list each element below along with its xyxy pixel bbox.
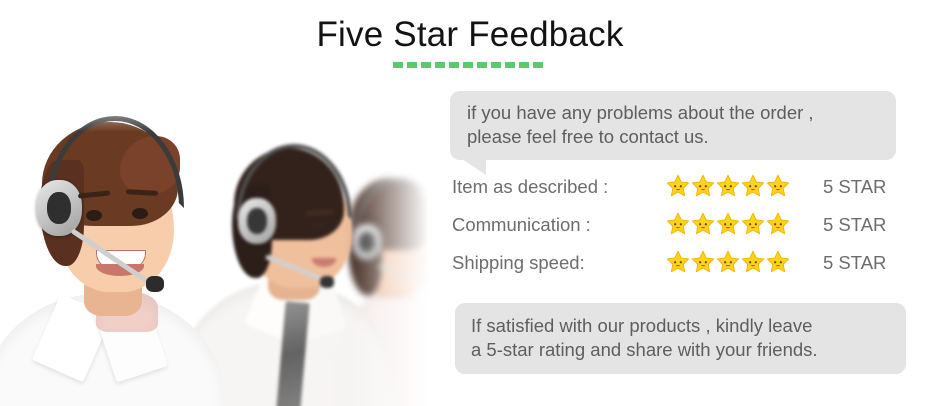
rating-row-communication: Communication :	[452, 210, 912, 248]
rating-value: 5 STAR	[823, 214, 886, 236]
star-icon	[766, 250, 790, 274]
star-icon	[666, 250, 690, 274]
star-icon	[766, 212, 790, 236]
leave-rating-line-2: a 5-star rating and share with your frie…	[471, 338, 891, 362]
leave-rating-line-1: If satisfied with our products , kindly …	[471, 314, 891, 338]
star-rating-5	[666, 248, 796, 278]
rating-label: Item as described :	[452, 176, 608, 198]
star-icon	[741, 174, 765, 198]
rating-value: 5 STAR	[823, 176, 886, 198]
star-icon	[691, 174, 715, 198]
rating-row-item-as-described: Item as described :	[452, 172, 912, 210]
star-rating-5	[666, 210, 796, 240]
star-icon	[716, 174, 740, 198]
star-rating-5	[666, 172, 796, 202]
rating-label: Communication :	[452, 214, 591, 236]
star-icon	[766, 174, 790, 198]
star-icon	[691, 212, 715, 236]
contact-us-bubble: if you have any problems about the order…	[450, 91, 896, 160]
star-icon	[691, 250, 715, 274]
feedback-banner: Five Star Feedback	[0, 0, 940, 406]
contact-us-line-1: if you have any problems about the order…	[467, 101, 880, 125]
leave-rating-bubble: If satisfied with our products , kindly …	[455, 303, 906, 374]
star-icon	[666, 212, 690, 236]
photo-top-fade	[0, 86, 442, 132]
star-icon	[741, 212, 765, 236]
ratings-list: Item as described :	[452, 172, 912, 286]
page-title: Five Star Feedback	[0, 14, 940, 56]
star-icon	[666, 174, 690, 198]
customer-service-team-photo	[0, 86, 442, 406]
title-dashed-rule	[393, 62, 543, 68]
star-icon	[741, 250, 765, 274]
contact-us-line-2: please feel free to contact us.	[467, 125, 880, 149]
star-icon	[716, 250, 740, 274]
rating-value: 5 STAR	[823, 252, 886, 274]
rating-label: Shipping speed:	[452, 252, 585, 274]
rating-row-shipping-speed: Shipping speed:	[452, 248, 912, 286]
star-icon	[716, 212, 740, 236]
